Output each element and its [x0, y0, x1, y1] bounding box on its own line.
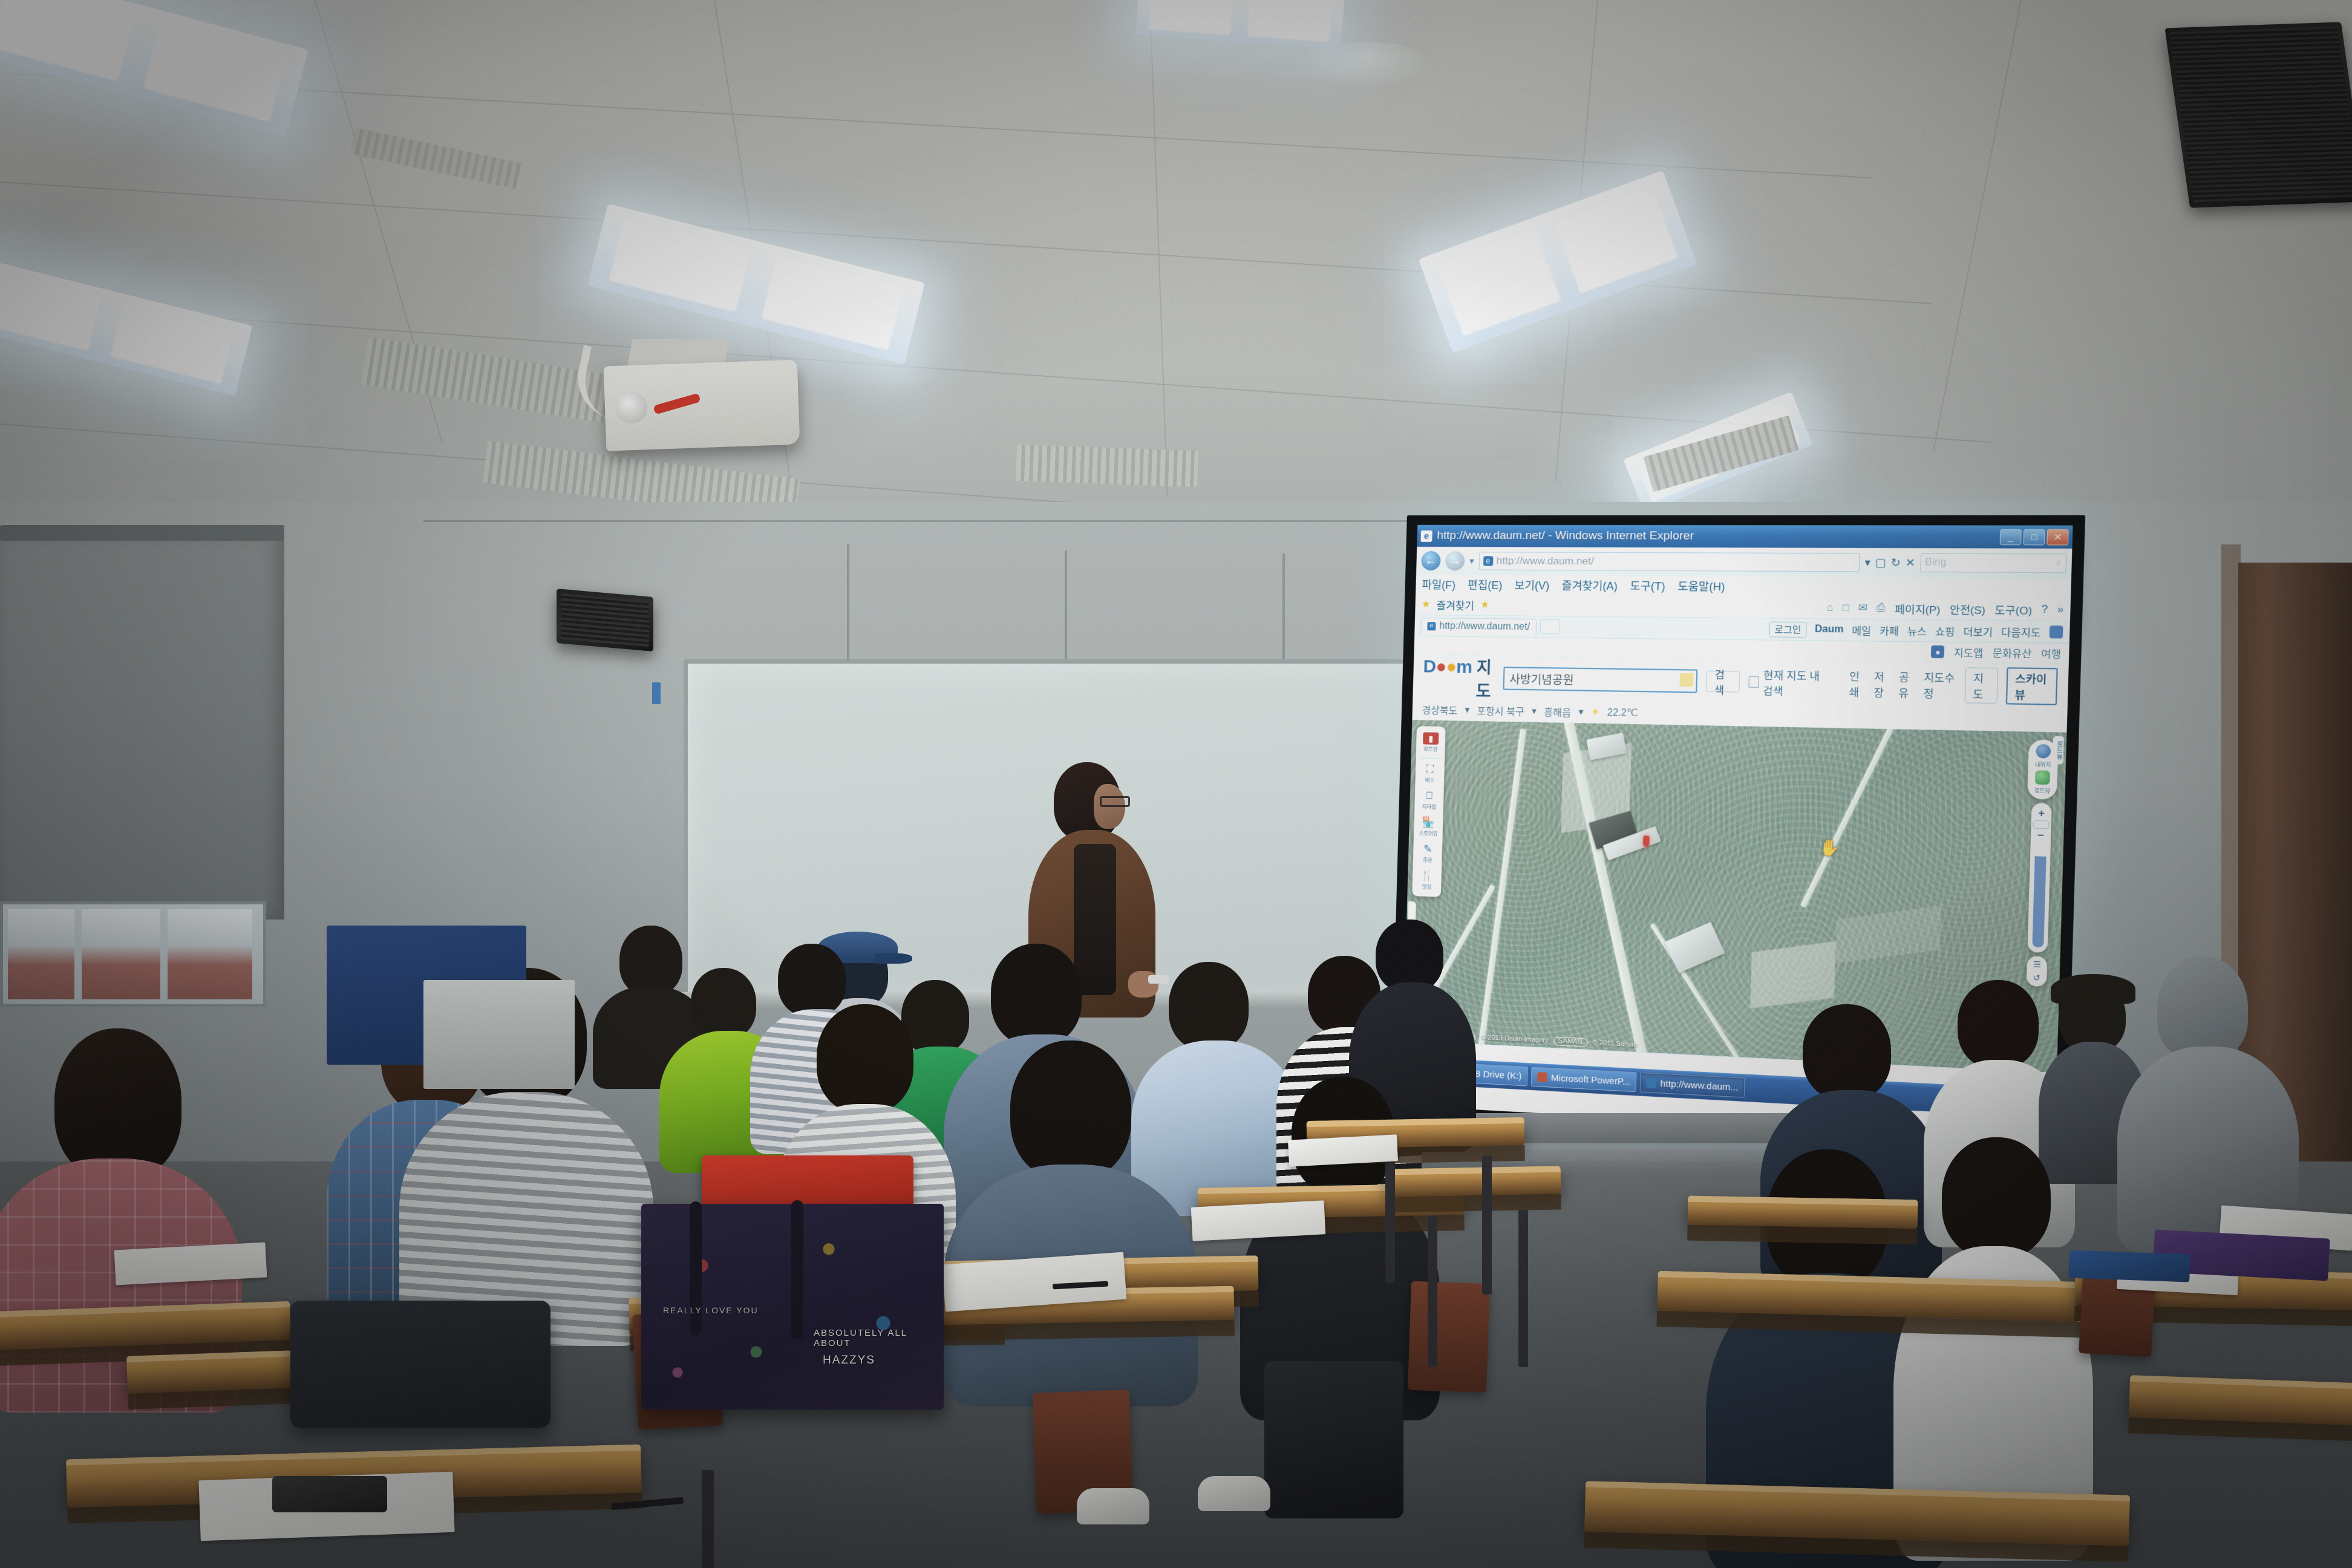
news-link[interactable]: 뉴스: [1907, 623, 1927, 638]
crumb-city[interactable]: 포항시 북구: [1477, 703, 1524, 719]
view-tab-skyview[interactable]: 스카이뷰: [2006, 667, 2058, 705]
crumb-sep-2: ▾: [1532, 705, 1537, 717]
map-toolbar: 인쇄 저장 공유 지도수정 지도 스카이뷰: [1849, 665, 2058, 705]
screen-roller: [0, 525, 284, 541]
cmd-page[interactable]: 페이지(P): [1895, 600, 1941, 616]
map-pin-icon: ●: [1931, 645, 1944, 658]
room-shell: e http://www.daum.net/ - Windows Interne…: [0, 0, 2352, 1568]
folder-icon: [1449, 1068, 1459, 1078]
menu-favorites[interactable]: 즐겨찾기(A): [1561, 577, 1618, 593]
menu-help[interactable]: 도움말(H): [1677, 578, 1725, 594]
attr-text-2: © 2011 Samah: [1592, 1039, 1638, 1048]
bus-icon: ⛶: [1423, 763, 1437, 776]
address-input[interactable]: e http://www.daum.net/: [1478, 552, 1860, 572]
taskbar-label-powerpoint: Microsoft PowerP...: [1551, 1073, 1631, 1087]
hvac-vent-3: [1016, 445, 1198, 487]
rail-item-gas[interactable]: ✎ 주유: [1414, 840, 1442, 866]
shopping-link[interactable]: 쇼핑: [1935, 623, 1955, 639]
map-field-2: [1750, 941, 1835, 1008]
map-search-input[interactable]: 사방기념공원: [1503, 667, 1698, 693]
rail-item-food[interactable]: 🍴 맛집: [1413, 867, 1440, 893]
map-canvas[interactable]: ✋ ▮ 로드뷰 ⛶ 버스 ⎕: [1403, 720, 2067, 1073]
crumb-sep-1: ▾: [1465, 704, 1470, 716]
help-icon[interactable]: ?: [2041, 603, 2048, 616]
attr-daum-logo: D●●m: [1454, 1031, 1476, 1042]
show-desktop-icon[interactable]: [1407, 1064, 1419, 1076]
cmd-tools[interactable]: 도구(O): [1994, 601, 2032, 618]
new-tab-button[interactable]: [1540, 619, 1560, 635]
menu-file[interactable]: 파일(F): [1422, 577, 1456, 592]
minimize-button[interactable]: _: [2000, 529, 2022, 544]
search-input[interactable]: Bing ⌕: [1920, 554, 2066, 573]
ie-title-bar: e http://www.daum.net/ - Windows Interne…: [1417, 525, 2073, 549]
back-button[interactable]: ←: [1421, 551, 1441, 570]
map-marker[interactable]: [1643, 835, 1650, 847]
cutlery-icon: 🍴: [1420, 870, 1434, 883]
window-controls: _ □ ✕: [2000, 529, 2069, 545]
menu-view[interactable]: 보기(V): [1514, 577, 1550, 593]
rail-label-food: 맛집: [1422, 883, 1432, 891]
platform-step-1: [1410, 1113, 1796, 1143]
map-mini-controls: ☰ ↺: [2027, 956, 2048, 987]
taskbar-label-ie: http://www.daum...: [1660, 1078, 1738, 1093]
attr-saman-logo: SAMAN: [1553, 1036, 1588, 1047]
taskbar-button-usb[interactable]: USB Drive (K:): [1442, 1062, 1528, 1086]
roadview-flag-icon: ▮: [1423, 732, 1439, 745]
rail-item-subway[interactable]: ⎕ 지하철: [1416, 787, 1443, 813]
cmd-safety[interactable]: 안전(S): [1949, 601, 1985, 617]
classroom-floor: [0, 1161, 2352, 1568]
rail-collapse-handle[interactable]: ▸: [1407, 901, 1416, 944]
roadview-label: 로드뷰: [2034, 786, 2050, 795]
tab-label: http://www.daum.net/: [1439, 621, 1530, 633]
wall-speaker-right: [2164, 22, 2352, 207]
rail-label-storeview: 스토어뷰: [1419, 829, 1437, 837]
search-placeholder: Bing: [1925, 557, 1946, 569]
address-value: http://www.daum.net/: [1497, 555, 1595, 567]
ie-favicon: e: [1420, 530, 1432, 541]
subnav-mapapp[interactable]: 지도앱: [1953, 644, 1983, 660]
search-in-current-map-checkbox[interactable]: 현재 지도 내 검색: [1748, 667, 1831, 699]
menu-edit[interactable]: 편집(E): [1468, 577, 1503, 593]
page-icon: e: [1483, 556, 1494, 566]
location-dot-icon[interactable]: [2036, 744, 2051, 759]
compat-view-icon[interactable]: ▢: [1875, 556, 1886, 569]
zoom-track[interactable]: [2032, 844, 2047, 947]
rail-label-gas: 주유: [1423, 856, 1432, 864]
weather-temperature: 22.2℃: [1607, 707, 1638, 719]
zoom-in-button[interactable]: +: [2033, 806, 2050, 821]
add-favorite-icon[interactable]: ★: [1480, 599, 1490, 611]
brand-label[interactable]: 다음지도: [2001, 624, 2041, 639]
rail-item-storeview[interactable]: 🏪 스토어뷰: [1415, 814, 1442, 840]
map-tool-rail: ▮ 로드뷰 ⛶ 버스 ⎕ 지하철 🏪: [1412, 726, 1445, 897]
close-button[interactable]: ✕: [2047, 529, 2068, 545]
roadview-marker-icon[interactable]: [2035, 770, 2050, 785]
overflow-icon[interactable]: »: [2057, 603, 2063, 616]
save-button[interactable]: 저장: [1873, 668, 1890, 700]
daum-link[interactable]: Daum: [1815, 624, 1844, 635]
zoom-handle[interactable]: [2033, 820, 2050, 829]
crumb-sep-3: ▾: [1578, 706, 1584, 718]
ie-command-bar: ⌂ □ ✉ ⎙ 페이지(P) 안전(S) 도구(O) ? »: [1826, 600, 2063, 618]
login-button[interactable]: 로그인: [1769, 621, 1807, 638]
wall-speaker-left: [557, 589, 653, 652]
zoom-out-button[interactable]: −: [2033, 829, 2049, 843]
projector-lens: [616, 392, 647, 423]
mail-link[interactable]: 메일: [1852, 622, 1871, 638]
daum-global-nav: 로그인 Daum 메일 카페 뉴스 쇼핑 더보기 다음지도: [1769, 621, 2063, 640]
crumb-town[interactable]: 흥해읍: [1544, 704, 1572, 719]
checkbox-label: 현재 지도 내 검색: [1763, 667, 1832, 699]
taskbar-button-ie[interactable]: http://www.daum...: [1640, 1073, 1745, 1098]
projection-screen: e http://www.daum.net/ - Windows Interne…: [1402, 525, 2073, 1142]
store-icon: 🏪: [1421, 817, 1436, 829]
whiteboard: [684, 659, 1436, 1007]
browser-tab[interactable]: e http://www.daum.net/: [1420, 618, 1537, 635]
share-button[interactable]: 공유: [1898, 668, 1916, 701]
ie-taskbar-icon: [1647, 1078, 1657, 1088]
classroom-door[interactable]: [2238, 563, 2352, 1240]
crumb-province[interactable]: 경상북도: [1422, 702, 1457, 717]
rail-item-bus[interactable]: ⛶ 버스: [1416, 760, 1443, 786]
tab-favicon: e: [1427, 622, 1436, 630]
subnav-heritage[interactable]: 문화유산: [1992, 645, 2032, 661]
menu-tools[interactable]: 도구(T): [1630, 578, 1665, 594]
whiteboard-marker-tray: [678, 992, 1434, 1008]
whiteboard-sticker: [652, 682, 661, 704]
window-title: http://www.daum.net/ - Windows Internet …: [1437, 529, 1994, 544]
keyboard-icon[interactable]: [1679, 673, 1694, 687]
favorites-label[interactable]: 즐겨찾기: [1436, 597, 1474, 613]
ie-quicklaunch-icon[interactable]: [1422, 1065, 1434, 1077]
zoom-slider[interactable]: + −: [2027, 803, 2052, 953]
address-dropdown-icon[interactable]: ▾: [1864, 556, 1870, 569]
favorites-star-icon[interactable]: ★: [1421, 598, 1431, 610]
classroom-window: [0, 901, 266, 1007]
globe-icon: [2005, 1074, 2016, 1085]
taskbar-button-powerpoint[interactable]: Microsoft PowerP...: [1531, 1067, 1637, 1093]
daum-wordmark: D●●m: [1423, 656, 1472, 678]
train-icon: ⎕: [1422, 790, 1436, 803]
reset-icon[interactable]: ↺: [2033, 973, 2040, 983]
roadview-side-tab[interactable]: 로드뷰: [2053, 736, 2064, 765]
hand-cursor: ✋: [1818, 838, 1840, 858]
print-button[interactable]: 인쇄: [1849, 668, 1866, 700]
feeds-icon[interactable]: □: [1842, 601, 1849, 614]
view-tab-map[interactable]: 지도: [1965, 667, 1999, 704]
retracted-projection-screen: [0, 532, 284, 920]
location-label: 내위치: [2035, 760, 2051, 768]
print-icon[interactable]: ⎙: [1877, 602, 1886, 615]
mail-icon[interactable]: ✉: [1858, 601, 1867, 614]
edit-map-button[interactable]: 지도수정: [1923, 668, 1957, 701]
app-badge-icon[interactable]: [2050, 626, 2063, 638]
map-search-button[interactable]: 검색: [1706, 671, 1740, 693]
rail-item-roadview[interactable]: ▮ 로드뷰: [1417, 730, 1445, 756]
weather-sun-icon: ☀: [1591, 706, 1600, 719]
daum-map-logo[interactable]: D●●m 지도: [1422, 653, 1495, 702]
more-link[interactable]: 더보기: [1963, 624, 1993, 639]
subnav-travel[interactable]: 여행: [2041, 645, 2062, 661]
stop-icon[interactable]: ✕: [1905, 556, 1915, 569]
classroom-scene: e http://www.daum.net/ - Windows Interne…: [0, 0, 2352, 1568]
rail-label-subway: 지하철: [1422, 803, 1436, 811]
smoke-detector: [1301, 42, 1428, 85]
refresh-icon[interactable]: ↻: [1890, 556, 1901, 569]
security-zone-label: 인터넷: [2022, 1074, 2049, 1088]
powerpoint-icon: [1537, 1072, 1547, 1082]
ie-address-bar: ← → ▾ e http://www.daum.net/ ▾ ▢ ↻ ✕ Bin…: [1416, 547, 2072, 578]
platform-step-2: [1477, 1149, 1827, 1177]
home-icon[interactable]: ⌂: [1826, 601, 1834, 614]
layers-icon[interactable]: ☰: [2033, 959, 2041, 970]
search-icon[interactable]: ⌕: [2056, 558, 2062, 569]
jido-label: 지도: [1475, 654, 1495, 702]
maximize-button[interactable]: □: [2023, 529, 2045, 545]
quick-launch: [1407, 1064, 1439, 1077]
map-search-value: 사방기념공원: [1509, 670, 1574, 688]
history-dropdown-icon[interactable]: ▾: [1469, 555, 1474, 566]
internet-explorer-window: e http://www.daum.net/ - Windows Interne…: [1402, 525, 2073, 1142]
taskbar-label-usb: USB Drive (K:): [1462, 1068, 1521, 1081]
checkbox-box[interactable]: [1749, 676, 1759, 688]
forward-button[interactable]: →: [1445, 551, 1465, 570]
rail-label-roadview: 로드뷰: [1423, 745, 1438, 753]
pencil-icon: ✎: [1420, 843, 1435, 856]
cafe-link[interactable]: 카페: [1880, 622, 1900, 638]
rail-label-bus: 버스: [1425, 776, 1434, 784]
address-tools: ▾ ▢ ↻ ✕: [1864, 556, 1915, 569]
